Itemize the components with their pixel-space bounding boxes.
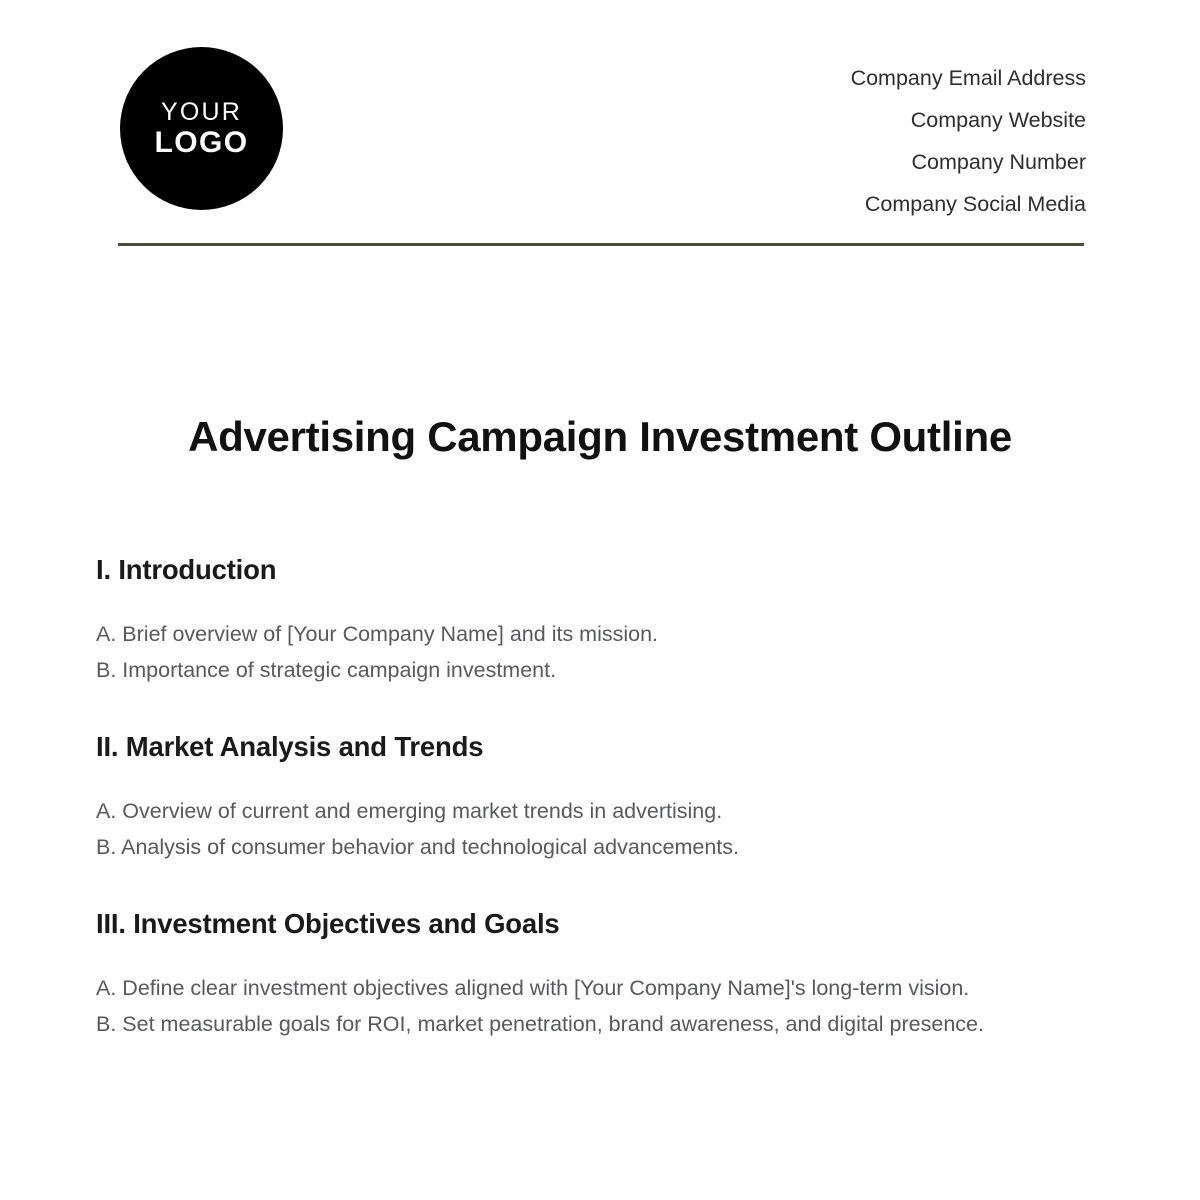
section-heading: II. Market Analysis and Trends [96,730,1102,763]
section-heading: I. Introduction [96,553,1102,586]
section-heading: III. Investment Objectives and Goals [96,907,1102,940]
company-contact-block: Company Email Address Company Website Co… [851,47,1086,225]
section-introduction: I. Introduction A. Brief overview of [Yo… [96,553,1102,688]
page-title: Advertising Campaign Investment Outline [96,413,1104,461]
logo-text-your: YOUR [161,98,242,126]
document-page: YOUR LOGO Company Email Address Company … [0,0,1200,1200]
section-item: A. Brief overview of [Your Company Name]… [96,616,1102,652]
section-item: A. Overview of current and emerging mark… [96,793,1102,829]
section-item: B. Importance of strategic campaign inve… [96,652,1102,688]
company-logo: YOUR LOGO [120,47,283,210]
section-item: A. Define clear investment objectives al… [96,970,1102,1006]
section-investment-objectives-and-goals: III. Investment Objectives and Goals A. … [96,907,1102,1042]
contact-social-media: Company Social Media [851,183,1086,225]
document-header: YOUR LOGO Company Email Address Company … [0,0,1200,225]
section-item: B. Analysis of consumer behavior and tec… [96,829,1102,865]
header-divider-rule [118,243,1084,246]
contact-email-address: Company Email Address [851,57,1086,99]
section-body: A. Brief overview of [Your Company Name]… [96,616,1102,688]
section-market-analysis-and-trends: II. Market Analysis and Trends A. Overvi… [96,730,1102,865]
logo-text-logo: LOGO [155,126,249,160]
document-body: I. Introduction A. Brief overview of [Yo… [96,553,1102,1042]
section-body: A. Define clear investment objectives al… [96,970,1102,1042]
contact-phone-number: Company Number [851,141,1086,183]
contact-website: Company Website [851,99,1086,141]
section-body: A. Overview of current and emerging mark… [96,793,1102,865]
section-item: B. Set measurable goals for ROI, market … [96,1006,1102,1042]
